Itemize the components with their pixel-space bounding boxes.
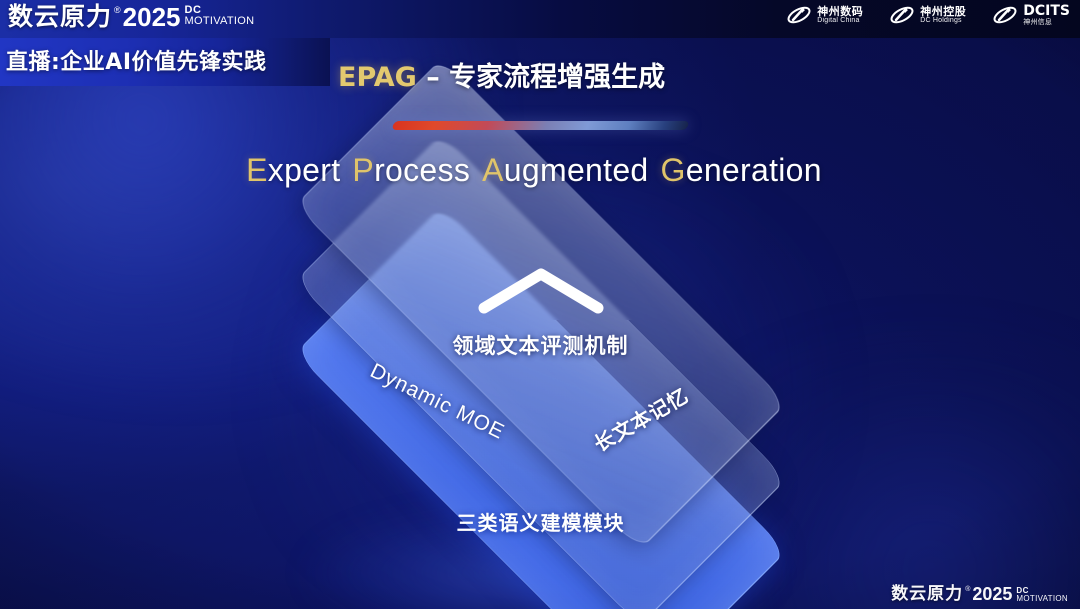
page-title: EPAG – 专家流程增强生成: [338, 55, 665, 94]
brand-name-cn: 数云原力: [8, 2, 112, 32]
watermark-name-cn: 数云原力: [891, 584, 963, 605]
watermark-dc-line2: MOTIVATION: [1016, 595, 1068, 603]
logo-name-cn: 神州数码: [817, 6, 863, 18]
word-cap: A: [482, 152, 504, 188]
layer-label-bottom: 三类语义建模模块: [457, 507, 625, 536]
logo-digital-china: 神州数码 Digital China: [786, 4, 863, 26]
watermark-registered: ®: [965, 585, 970, 595]
swoosh-icon: [786, 4, 812, 26]
title-separator: –: [417, 62, 449, 93]
chevron-up-icon: [476, 266, 606, 319]
logo-text: 神州数码 Digital China: [817, 6, 863, 25]
brand-dc-motivation: DC MOTIVATION: [185, 5, 255, 27]
logo-name-en: Digital China: [817, 17, 863, 24]
watermark-dc: DC MOTIVATION: [1016, 587, 1068, 603]
word-process: Process: [352, 152, 470, 188]
word-expert: Expert: [246, 152, 340, 188]
word-generation: Generation: [661, 152, 822, 188]
layered-architecture-diagram: 领域文本评测机制 Dynamic MOE 长文本记忆 三类语义建模模块: [268, 222, 813, 567]
gradient-divider: [392, 121, 690, 130]
word-rest: rocess: [374, 152, 470, 188]
logo-text: 神州控股 DC Holdings: [920, 6, 966, 25]
title-acronym: EPAG: [338, 62, 417, 93]
brand-dc-line2: MOTIVATION: [185, 16, 255, 27]
live-subtitle: 直播:企业AI价值先锋实践: [6, 44, 267, 76]
logo-name-cn: DCITS: [1023, 4, 1070, 19]
subtitle-english: ExpertProcessAugmentedGeneration: [0, 152, 1080, 189]
swoosh-icon: [889, 4, 915, 26]
logo-dc-holdings: 神州控股 DC Holdings: [889, 4, 966, 26]
word-rest: ugmented: [504, 152, 649, 188]
word-cap: G: [661, 152, 686, 188]
word-cap: P: [352, 152, 374, 188]
title-chinese: 专家流程增强生成: [449, 62, 665, 93]
brand-watermark-bottom: 数云原力 ® 2025 DC MOTIVATION: [891, 584, 1068, 605]
logo-name-cn: 神州控股: [920, 6, 966, 18]
logo-name-en: DC Holdings: [920, 17, 966, 24]
word-rest: eneration: [686, 152, 822, 188]
registered-mark: ®: [114, 3, 121, 17]
layer-label-top: 领域文本评测机制: [453, 330, 629, 360]
logo-name-en: 神州信息: [1023, 19, 1070, 26]
swoosh-icon: [992, 4, 1018, 26]
brand-logo-top: 数云原力 ® 2025 DC MOTIVATION: [8, 2, 254, 32]
word-cap: E: [246, 152, 268, 188]
word-rest: xpert: [268, 152, 341, 188]
partner-logo-group: 神州数码 Digital China 神州控股 DC Holdings: [786, 4, 1070, 26]
slide-canvas: 数云原力 ® 2025 DC MOTIVATION 直播:企业AI价值先锋实践 …: [0, 0, 1080, 609]
word-augmented: Augmented: [482, 152, 648, 188]
brand-year: 2025: [123, 2, 181, 32]
watermark-year: 2025: [972, 584, 1012, 605]
logo-text: DCITS 神州信息: [1023, 4, 1070, 26]
logo-dcits: DCITS 神州信息: [992, 4, 1070, 26]
